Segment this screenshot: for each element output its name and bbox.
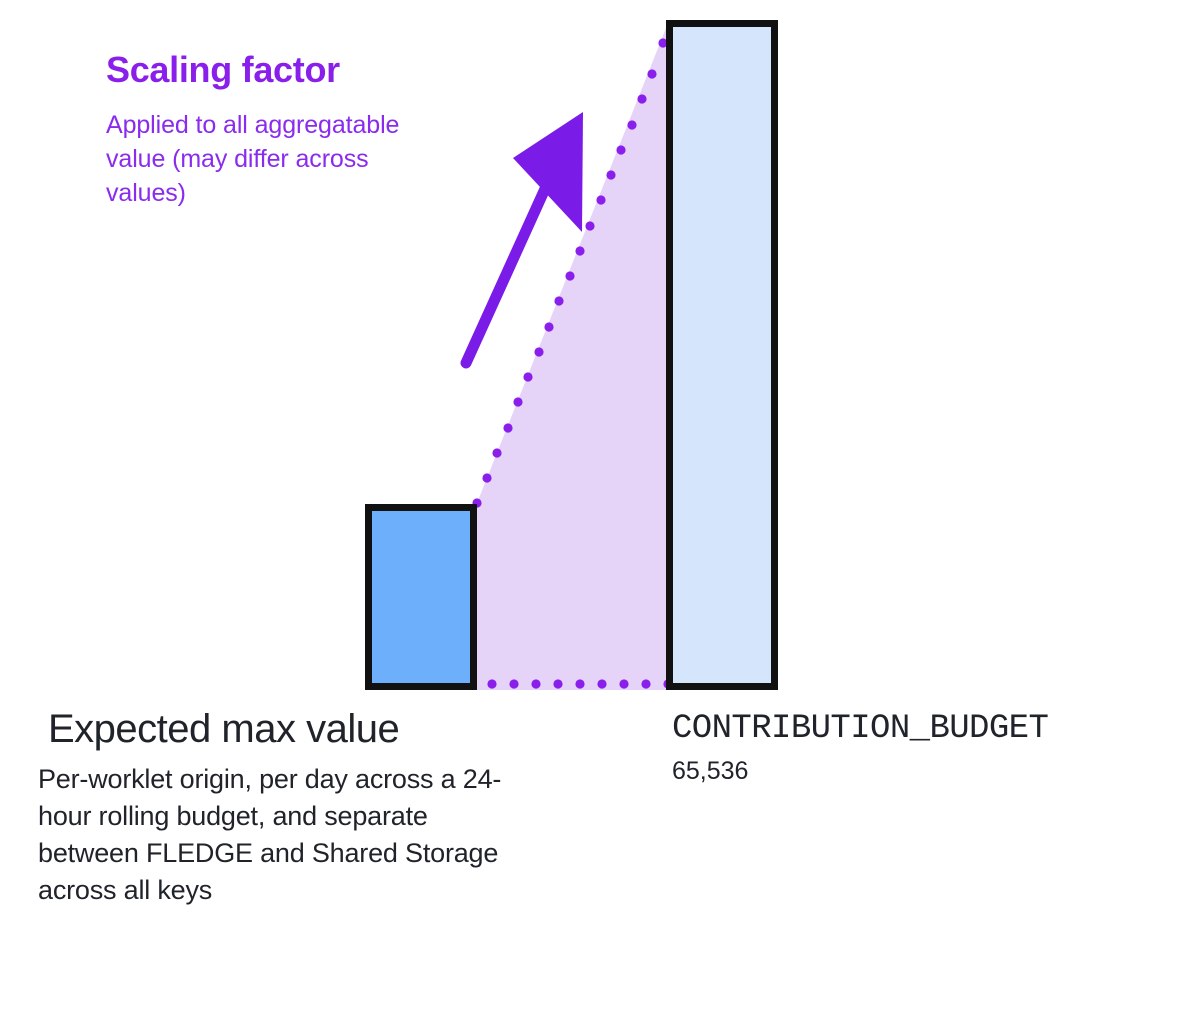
expected-max-value-label: Expected max value [48, 705, 508, 753]
baseline-dotted-connector [487, 679, 672, 688]
contribution-budget-value: 65,536 [672, 755, 1192, 787]
contribution-budget-label: CONTRIBUTION_BUDGET [672, 708, 1192, 750]
scaling-factor-title: Scaling factor [106, 48, 446, 92]
bar-expected-max-value [369, 508, 474, 687]
contribution-budget-caption: CONTRIBUTION_BUDGET 65,536 [672, 708, 1192, 787]
expected-max-value-description: Per-worklet origin, per day across a 24-… [38, 761, 508, 909]
expected-max-value-caption: Expected max value Per-worklet origin, p… [38, 705, 508, 909]
scaling-factor-description: Applied to all aggregatable value (may d… [106, 108, 446, 210]
scaling-factor-annotation: Scaling factor Applied to all aggregatab… [106, 48, 446, 210]
diagram-canvas: Scaling factor Applied to all aggregatab… [0, 0, 1200, 1022]
bar-contribution-budget [670, 24, 775, 687]
